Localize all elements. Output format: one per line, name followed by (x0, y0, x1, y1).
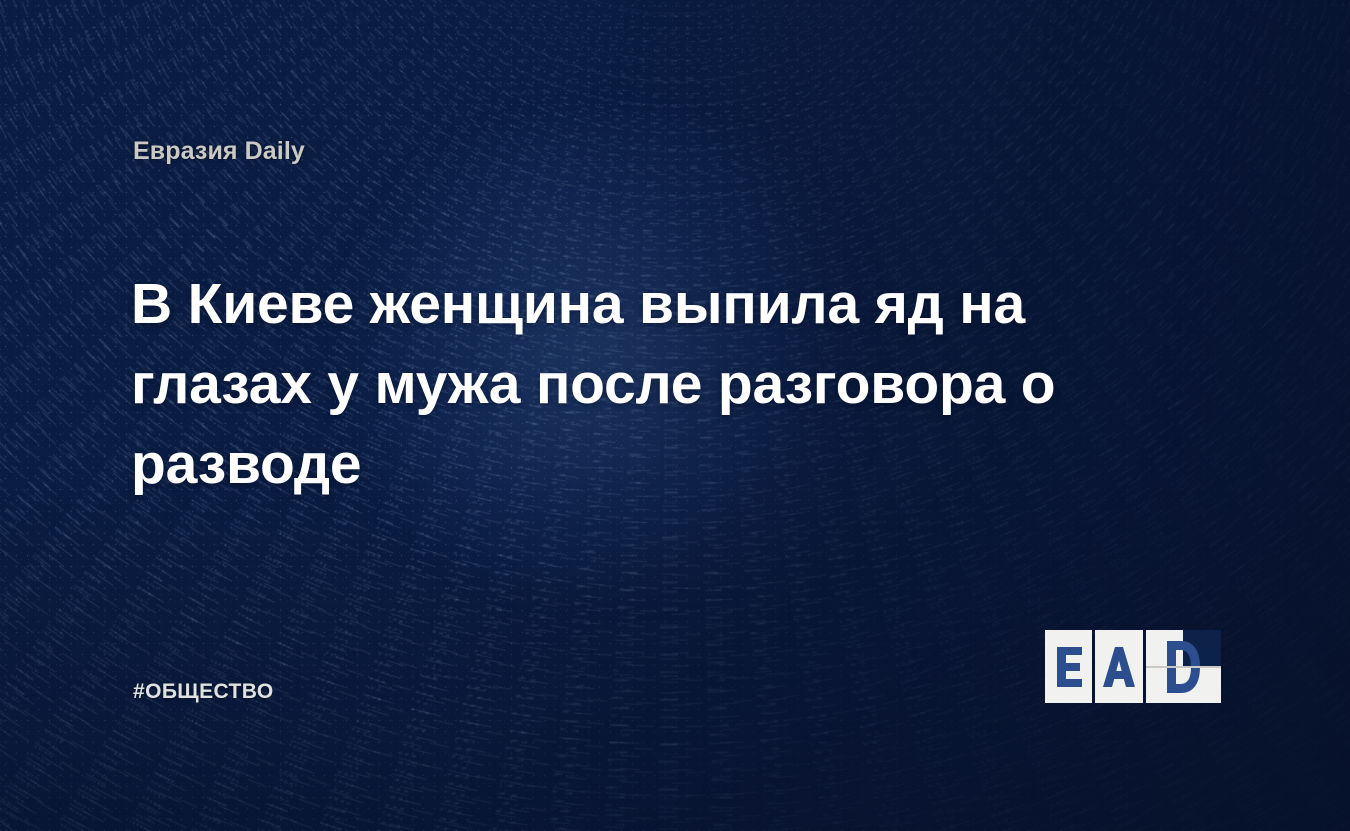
site-brand-name[interactable]: Евразия Daily (133, 137, 305, 166)
logo-tile-e-icon (1054, 645, 1084, 689)
logo-tile-d-seam (1146, 666, 1221, 668)
eadaily-logo[interactable] (1045, 630, 1221, 703)
logo-tile-a-icon (1102, 645, 1136, 689)
logo-tile-d (1146, 630, 1221, 703)
logo-tile-a (1095, 630, 1142, 703)
category-tag[interactable]: #ОБЩЕСТВО (133, 680, 274, 704)
logo-tile-e (1045, 630, 1092, 703)
article-headline[interactable]: В Киеве женщина выпила яд на глазах у му… (131, 264, 1201, 504)
card-content: Евразия Daily В Киеве женщина выпила яд … (0, 0, 1350, 831)
social-share-card: Евразия Daily В Киеве женщина выпила яд … (0, 0, 1350, 831)
